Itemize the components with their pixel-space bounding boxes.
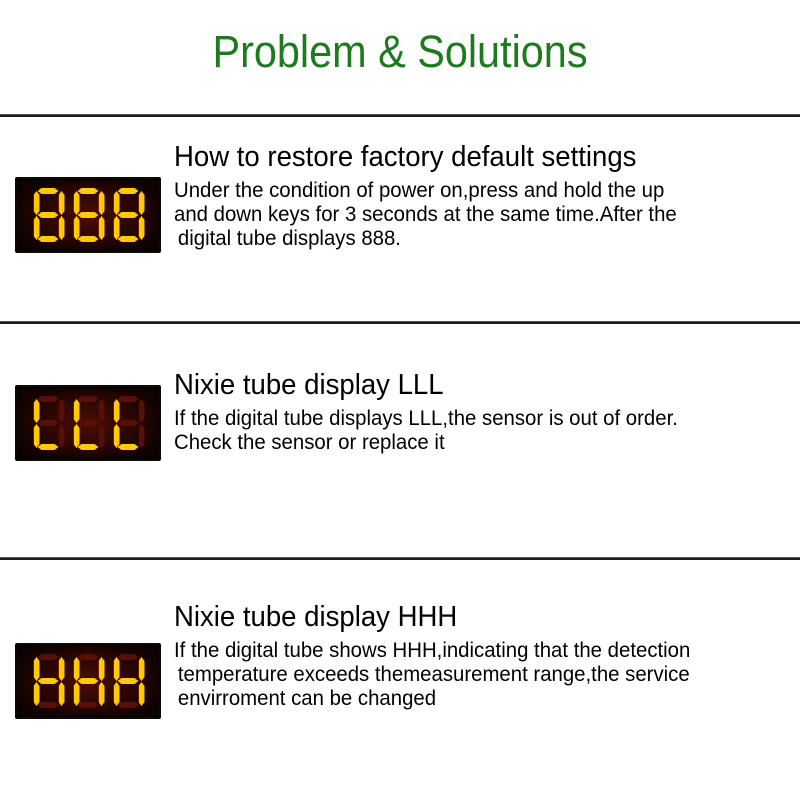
segment-e — [34, 216, 40, 240]
segment-c — [139, 216, 145, 240]
body-line: Under the condition of power on,press an… — [174, 179, 775, 203]
segment-d — [38, 236, 59, 242]
segment-c — [99, 424, 105, 448]
segment-g — [38, 678, 59, 684]
segment-e — [74, 682, 80, 706]
segment-d — [118, 236, 139, 242]
segment-e — [114, 216, 120, 240]
segment-b — [59, 399, 65, 423]
digit-1 — [32, 396, 65, 450]
segment-b — [59, 191, 65, 215]
segment-g — [38, 420, 59, 426]
seven-segment-display-888 — [15, 177, 161, 253]
digit-3 — [112, 654, 145, 708]
problem-section-lll: Nixie tube display LLL If the digital tu… — [0, 368, 800, 538]
problem-section-factory-reset: How to restore factory default settings … — [0, 140, 800, 310]
body-line: digital tube displays 888. — [174, 227, 775, 251]
segment-c — [59, 424, 65, 448]
segment-f — [34, 191, 40, 215]
segment-c — [59, 216, 65, 240]
segment-d — [78, 444, 99, 450]
segment-a — [118, 396, 139, 402]
digit-3 — [112, 396, 145, 450]
segment-a — [78, 188, 99, 194]
segment-c — [139, 424, 145, 448]
segment-c — [59, 682, 65, 706]
segment-a — [118, 654, 139, 660]
body-line: envirroment can be changed — [174, 687, 775, 711]
segment-c — [99, 682, 105, 706]
digit-3 — [112, 188, 145, 242]
section-text-1: How to restore factory default settings … — [174, 140, 794, 251]
segment-e — [114, 424, 120, 448]
divider-top — [0, 114, 800, 117]
section-heading: Nixie tube display LLL — [174, 368, 763, 402]
body-line: If the digital tube shows HHH,indicating… — [174, 639, 775, 663]
segment-f — [114, 191, 120, 215]
segment-d — [78, 702, 99, 708]
segment-g — [118, 212, 139, 218]
segment-d — [38, 444, 59, 450]
segment-g — [78, 212, 99, 218]
segment-g — [118, 678, 139, 684]
segment-b — [139, 657, 145, 681]
segment-c — [99, 216, 105, 240]
segment-b — [139, 399, 145, 423]
segment-g — [118, 420, 139, 426]
segment-d — [78, 236, 99, 242]
segment-a — [118, 188, 139, 194]
segment-e — [74, 216, 80, 240]
segment-e — [34, 682, 40, 706]
segment-f — [74, 399, 80, 423]
segment-b — [99, 191, 105, 215]
body-line: temperature exceeds themeasurement range… — [174, 663, 775, 687]
segment-b — [139, 191, 145, 215]
segment-b — [99, 657, 105, 681]
segment-e — [74, 424, 80, 448]
section-heading: Nixie tube display HHH — [174, 600, 763, 634]
divider-bottom — [0, 557, 800, 560]
section-heading: How to restore factory default settings — [174, 140, 763, 174]
divider-middle — [0, 321, 800, 324]
segment-f — [34, 399, 40, 423]
section-text-2: Nixie tube display LLL If the digital tu… — [174, 368, 794, 455]
segment-d — [38, 702, 59, 708]
segment-e — [114, 682, 120, 706]
segment-a — [38, 396, 59, 402]
problem-section-hhh: Nixie tube display HHH If the digital tu… — [0, 600, 800, 770]
section-body: If the digital tube shows HHH,indicating… — [174, 639, 775, 711]
segment-a — [78, 654, 99, 660]
segment-c — [139, 682, 145, 706]
segment-f — [114, 399, 120, 423]
segment-f — [74, 191, 80, 215]
digit-1 — [32, 654, 65, 708]
body-line: and down keys for 3 seconds at the same … — [174, 203, 775, 227]
segment-f — [114, 657, 120, 681]
seven-segment-display-LLL — [15, 385, 161, 461]
segment-g — [38, 212, 59, 218]
page-title: Problem & Solutions — [32, 26, 768, 78]
segment-f — [34, 657, 40, 681]
segment-d — [118, 702, 139, 708]
digit-1 — [32, 188, 65, 242]
segment-g — [78, 678, 99, 684]
segment-b — [99, 399, 105, 423]
body-line: Check the sensor or replace it — [174, 431, 775, 455]
segment-a — [38, 654, 59, 660]
segment-f — [74, 657, 80, 681]
digit-2 — [72, 654, 105, 708]
body-line: If the digital tube displays LLL,the sen… — [174, 407, 775, 431]
section-body: Under the condition of power on,press an… — [174, 179, 775, 251]
section-text-3: Nixie tube display HHH If the digital tu… — [174, 600, 794, 711]
segment-e — [34, 424, 40, 448]
digit-2 — [72, 188, 105, 242]
segment-b — [59, 657, 65, 681]
digit-2 — [72, 396, 105, 450]
section-body: If the digital tube displays LLL,the sen… — [174, 407, 775, 455]
segment-a — [78, 396, 99, 402]
segment-d — [118, 444, 139, 450]
segment-a — [38, 188, 59, 194]
seven-segment-display-HHH — [15, 643, 161, 719]
segment-g — [78, 420, 99, 426]
